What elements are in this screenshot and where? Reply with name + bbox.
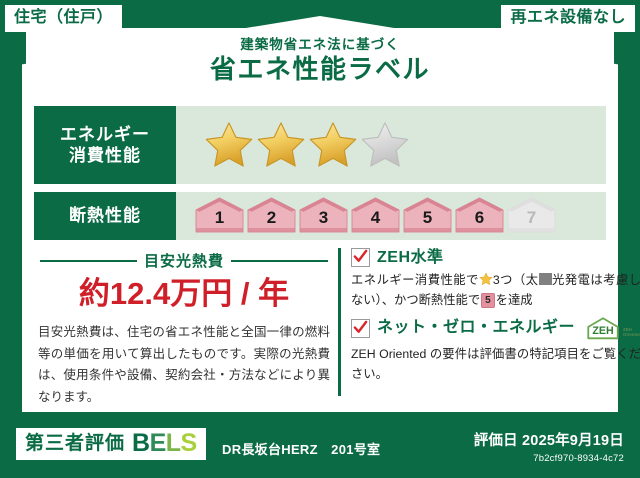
bels-letter-s: S — [181, 429, 197, 457]
energy-label-line1: エネルギー — [60, 124, 150, 145]
check-icon — [353, 249, 368, 264]
zeh-standard-title: ZEH水準 — [377, 250, 444, 266]
zeh-section: ZEH水準 エネルギー消費性能で3つ（太光発電は考慮しない）、かつ断熱性能で5を… — [351, 246, 640, 398]
zeh-net-zero-heading: ネット・ゼロ・エネルギー ZEH ZEH Oriented — [351, 316, 640, 341]
svg-text:ZEH: ZEH — [592, 325, 613, 337]
house-level-number: 6 — [454, 209, 505, 226]
insulation-performance-row: 断熱性能 1234567 — [34, 192, 606, 240]
zeh-desc-part2: 3つ（太 — [493, 273, 539, 287]
star-filled-icon — [256, 120, 306, 170]
label-body-panel: エネルギー 消費性能 断熱性能 1234567 目安光熱費 — [22, 94, 618, 412]
insulation-house-6: 6 — [454, 196, 505, 236]
energy-performance-label: エネルギー 消費性能 — [34, 106, 176, 184]
house-level-number: 2 — [246, 209, 297, 226]
zeh-desc-part4: を達成 — [496, 293, 533, 307]
utility-cost-heading: 目安光熱費 — [34, 250, 334, 271]
insulation-performance-label: 断熱性能 — [34, 192, 176, 240]
insulation-level-badge: 5 — [481, 293, 495, 308]
house-level-number: 5 — [402, 209, 453, 226]
insulation-rating-value: 1234567 — [176, 192, 606, 240]
bels-letter-b: B — [132, 429, 150, 457]
zeh-desc-part1: エネルギー消費性能で — [351, 273, 479, 287]
bels-letter-e: E — [150, 429, 166, 457]
zeh-logo: ZEH ZEH Oriented — [585, 316, 640, 341]
insulation-house-1: 1 — [194, 196, 245, 236]
energy-performance-label: 住宅（住戸） 再エネ設備なし 建築物省エネ法に基づく 省エネ性能ラベル エネルギ… — [0, 0, 640, 478]
vertical-divider — [338, 248, 341, 396]
zeh-house-icon: ZEH — [585, 316, 621, 341]
energy-performance-row: エネルギー 消費性能 — [34, 106, 606, 184]
house-level-number: 1 — [194, 209, 245, 226]
house-level-number: 3 — [298, 209, 349, 226]
insulation-label-text: 断熱性能 — [69, 205, 141, 226]
house-level-number: 7 — [506, 209, 557, 226]
insulation-house-4: 4 — [350, 196, 401, 236]
redacted-text-block — [539, 273, 552, 285]
unit-name: DR長坂台HERZ 201号室 — [222, 439, 380, 458]
inline-star-icon — [479, 272, 493, 286]
insulation-house-3: 3 — [298, 196, 349, 236]
third-party-evaluation-text: 第三者評価 — [25, 434, 125, 453]
insulation-house-2: 2 — [246, 196, 297, 236]
insulation-house-5: 5 — [402, 196, 453, 236]
zeh-net-zero-description: ZEH Oriented の要件は評価書の特記項目をご覧ください。 — [351, 345, 640, 385]
evaluation-date: 評価日 2025年9月19日 — [474, 429, 624, 450]
bels-letter-l: L — [166, 429, 181, 457]
zeh-net-zero-checkbox[interactable] — [351, 319, 370, 338]
zeh-standard-heading: ZEH水準 — [351, 248, 640, 267]
document-id: 7b2cf970-8934-4c72 — [474, 453, 624, 464]
zeh-logo-sub-line2: Oriented — [623, 332, 640, 337]
utility-cost-section: 目安光熱費 約12.4万円 / 年 目安光熱費は、住宅の省エネ性能と全国一律の燃… — [34, 246, 334, 398]
zeh-net-zero-block: ネット・ゼロ・エネルギー ZEH ZEH Oriented — [351, 316, 640, 385]
energy-rating-value — [176, 106, 606, 184]
zeh-net-zero-title: ネット・ゼロ・エネルギー — [377, 320, 575, 336]
star-rating — [204, 120, 410, 170]
utility-cost-amount: 約12.4万円 / 年 — [34, 278, 334, 309]
zeh-standard-block: ZEH水準 エネルギー消費性能で3つ（太光発電は考慮しない）、かつ断熱性能で5を… — [351, 248, 640, 311]
house-level-number: 4 — [350, 209, 401, 226]
utility-cost-note: 目安光熱費は、住宅の省エネ性能と全国一律の燃料等の単価を用いて算出したものです。… — [34, 322, 334, 408]
utility-cost-heading-text: 目安光熱費 — [144, 250, 224, 271]
lower-content: 目安光熱費 約12.4万円 / 年 目安光熱費は、住宅の省エネ性能と全国一律の燃… — [34, 246, 606, 398]
zeh-standard-description: エネルギー消費性能で3つ（太光発電は考慮しない）、かつ断熱性能で5を達成 — [351, 271, 640, 311]
star-empty-icon — [360, 120, 410, 170]
zeh-standard-checkbox[interactable] — [351, 248, 370, 267]
bels-logo: BELS — [132, 431, 197, 456]
heading-rule-left — [40, 260, 137, 262]
evaluation-date-block: 評価日 2025年9月19日 7b2cf970-8934-4c72 — [474, 429, 624, 464]
footer-bar: 第三者評価 BELS DR長坂台HERZ 201号室 評価日 2025年9月19… — [0, 418, 640, 478]
zeh-logo-subtext: ZEH Oriented — [623, 328, 640, 341]
heading-rule-right — [231, 260, 328, 262]
insulation-house-7: 7 — [506, 196, 557, 236]
star-filled-icon — [308, 120, 358, 170]
star-filled-icon — [204, 120, 254, 170]
bels-badge: 第三者評価 BELS — [16, 428, 206, 460]
roof-base — [26, 28, 614, 94]
house-rating-scale: 1234567 — [194, 196, 557, 236]
energy-label-line2: 消費性能 — [69, 145, 141, 166]
check-icon — [353, 320, 368, 335]
